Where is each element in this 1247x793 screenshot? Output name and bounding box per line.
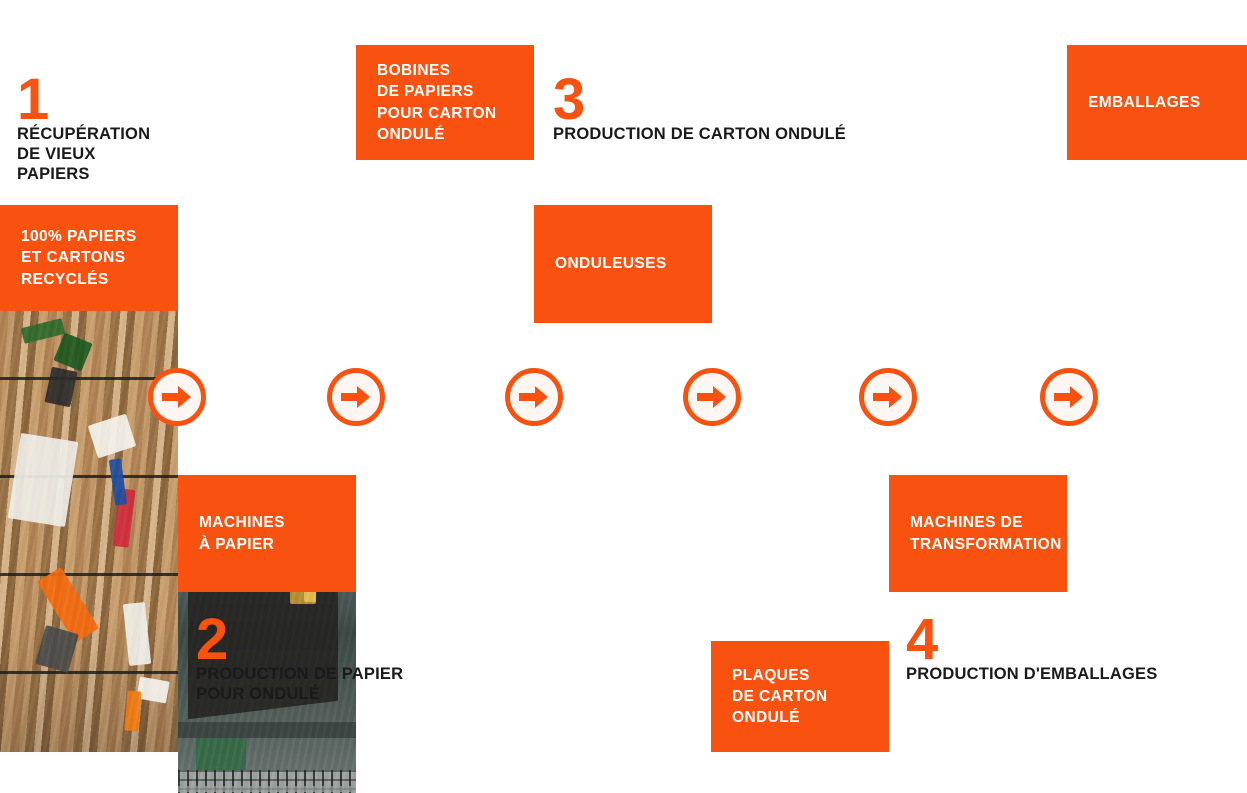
step-4-number: 4	[906, 616, 1206, 664]
panel-paper-machines: MACHINES À PAPIER	[178, 475, 356, 592]
panel-recycled: 100% PAPIERS ET CARTONS RECYCLÉS	[0, 205, 178, 311]
step-3: 3 PRODUCTION DE CARTON ONDULÉ	[553, 76, 893, 144]
panel-corrugators: ONDULEUSES	[534, 205, 712, 323]
arrow-5-icon	[859, 368, 917, 426]
step-3-number: 3	[553, 76, 893, 124]
step-3-caption: PRODUCTION DE CARTON ONDULÉ	[553, 125, 846, 143]
panel-packaging: EMBALLAGES	[1067, 45, 1247, 160]
panel-recycled-text: 100% PAPIERS ET CARTONS RECYCLÉS	[0, 226, 147, 289]
arrow-6-icon	[1040, 368, 1098, 426]
arrow-2-icon	[327, 368, 385, 426]
step-1-caption: RÉCUPÉRATION DE VIEUX PAPIERS	[17, 125, 150, 183]
arrow-4-icon	[683, 368, 741, 426]
panel-converting: MACHINES DE TRANSFORMATION	[889, 475, 1067, 592]
step-2-number: 2	[196, 616, 496, 664]
panel-paper-machines-text: MACHINES À PAPIER	[178, 512, 295, 554]
step-4-caption: PRODUCTION D'EMBALLAGES	[906, 665, 1157, 683]
arrow-1-icon	[148, 368, 206, 426]
arrow-3-icon	[505, 368, 563, 426]
step-1-number: 1	[17, 76, 177, 124]
step-4: 4 PRODUCTION D'EMBALLAGES	[906, 616, 1206, 684]
panel-boards: PLAQUES DE CARTON ONDULÉ	[711, 641, 889, 752]
step-2: 2 PRODUCTION DE PAPIER POUR ONDULÉ	[196, 616, 496, 704]
infographic-root: 1 RÉCUPÉRATION DE VIEUX PAPIERS 100% PAP…	[0, 0, 1247, 793]
panel-corrugators-text: ONDULEUSES	[534, 253, 677, 274]
step-2-caption: PRODUCTION DE PAPIER POUR ONDULÉ	[196, 665, 403, 703]
panel-reels: BOBINES DE PAPIERS POUR CARTON ONDULÉ	[356, 45, 534, 160]
panel-reels-text: BOBINES DE PAPIERS POUR CARTON ONDULÉ	[356, 60, 507, 144]
panel-converting-text: MACHINES DE TRANSFORMATION	[889, 512, 1072, 554]
step-1: 1 RÉCUPÉRATION DE VIEUX PAPIERS	[17, 76, 177, 184]
panel-boards-text: PLAQUES DE CARTON ONDULÉ	[711, 665, 837, 728]
panel-packaging-text: EMBALLAGES	[1067, 92, 1211, 113]
photo-bale	[0, 311, 178, 752]
